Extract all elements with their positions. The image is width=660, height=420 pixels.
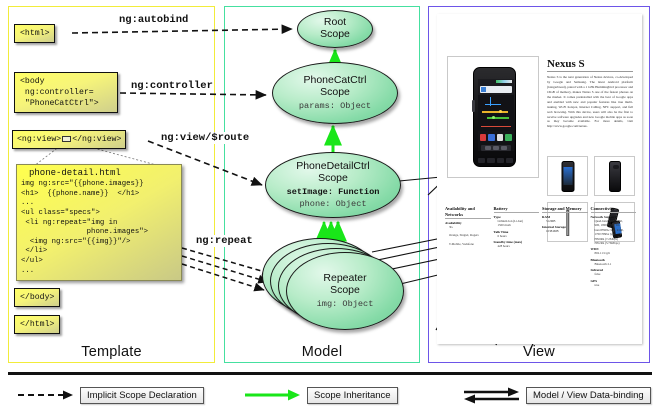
bidirectional-arrow-icon bbox=[462, 386, 520, 404]
wire-label-controller: ng:controller bbox=[130, 80, 214, 92]
spec-value: 6 hours bbox=[494, 234, 540, 238]
spec-value: Quad-band GSM: 850, 900, 1800, 1900 Tri-… bbox=[591, 219, 637, 245]
legend-label-scope-inheritance: Scope Inheritance bbox=[307, 387, 398, 404]
thumbnail-phone-back[interactable] bbox=[594, 156, 635, 196]
wire-label-ngview-route: ng:view/$route bbox=[160, 132, 250, 144]
spec-value: Bluetooth 2.1 bbox=[591, 262, 637, 266]
green-arrow-icon bbox=[243, 386, 301, 404]
spec-heading: Storage and Memory bbox=[542, 206, 588, 213]
product-title-block: Nexus S Nexus S is the next generation o… bbox=[547, 58, 633, 129]
spec-value: 3G Orange, Singtel, Rogers T-Mobile, Vod… bbox=[445, 225, 491, 247]
scope-root-title: Root Scope bbox=[320, 17, 350, 41]
scope-repeater: Repeater Scope img: Object bbox=[286, 252, 404, 330]
scope-phonecatctrl-title: PhoneCatCtrl Scope bbox=[303, 75, 366, 99]
spec-table: Availability and Networks Availability 3… bbox=[445, 206, 636, 287]
ngview-slot-icon bbox=[62, 136, 71, 142]
phone-nav-buttons bbox=[478, 158, 513, 163]
legend: Implicit Scope Declaration Scope Inherit… bbox=[0, 372, 660, 420]
tag-ngview: <ng:view></ng:view> bbox=[12, 130, 126, 149]
legend-item-scope-inheritance: Scope Inheritance bbox=[243, 386, 398, 404]
column-label-model: Model bbox=[225, 344, 419, 360]
spec-value: 802.11 b/g/n bbox=[591, 251, 637, 255]
scope-repeater-prop-img: img: Object bbox=[317, 299, 374, 309]
spec-value: false bbox=[591, 272, 637, 276]
tag-html-open: <html> bbox=[14, 24, 55, 43]
column-label-view: View bbox=[429, 344, 649, 360]
column-label-template: Template bbox=[9, 344, 214, 360]
tag-body-open: <body ng:controller= "PhoneCatCtrl"> bbox=[14, 72, 118, 113]
spec-heading: Battery bbox=[494, 206, 540, 213]
wire-label-autobind: ng:autobind bbox=[118, 14, 189, 26]
tag-ngview-open: <ng:view> bbox=[17, 135, 61, 144]
phone-side-button-icon bbox=[472, 100, 475, 112]
spec-value: 16384MB bbox=[542, 229, 588, 233]
code-sheet-filename: phone-detail.html bbox=[17, 165, 181, 180]
legend-label-implicit-scope: Implicit Scope Declaration bbox=[80, 387, 204, 404]
phone-app-icons bbox=[480, 134, 512, 143]
spec-value: 512MB bbox=[542, 219, 588, 223]
phone-dock bbox=[481, 145, 511, 151]
spec-column-connectivity: Connectivity Network Support Quad-band G… bbox=[591, 206, 637, 287]
scope-phonedetailctrl: PhoneDetailCtrl Scope setImage: Function… bbox=[265, 152, 401, 218]
spec-value: 428 hours bbox=[494, 244, 540, 248]
tag-body-close: </body> bbox=[14, 288, 60, 307]
spec-value: Lithium Ion (Li-Ion) 1500 mAh bbox=[494, 219, 540, 228]
legend-item-data-binding: Model / View Data-binding bbox=[462, 386, 651, 404]
scope-root: Root Scope bbox=[297, 10, 373, 48]
product-title: Nexus S bbox=[547, 58, 633, 72]
code-sheet-phone-detail: phone-detail.html img ng:src="{{phone.im… bbox=[16, 164, 182, 281]
legend-item-implicit-scope: Implicit Scope Declaration bbox=[16, 386, 204, 404]
legend-divider bbox=[8, 372, 652, 375]
phone-map-widget bbox=[478, 95, 514, 131]
spec-heading: Availability and Networks bbox=[445, 206, 491, 219]
code-sheet-source: img ng:src="{{phone.images}} <h1> {{phon… bbox=[17, 180, 181, 276]
tag-html-close: </html> bbox=[14, 315, 60, 334]
wire-label-repeat: ng:repeat bbox=[195, 235, 254, 247]
phone-screen bbox=[478, 79, 514, 151]
phone-search-widget bbox=[480, 86, 512, 93]
tag-ngview-close: </ng:view> bbox=[72, 135, 121, 144]
scope-phonecatctrl-prop-params: params: Object bbox=[299, 101, 371, 111]
spec-column-storage: Storage and Memory RAM 512MB Internal St… bbox=[542, 206, 588, 287]
spec-heading: Connectivity bbox=[591, 206, 637, 213]
scope-repeater-title: Repeater Scope bbox=[323, 273, 366, 297]
spec-value: true bbox=[591, 283, 637, 287]
phone-statusbar bbox=[496, 80, 512, 83]
spec-column-battery: Battery Type Lithium Ion (Li-Ion) 1500 m… bbox=[494, 206, 540, 287]
product-description: Nexus S is the next generation of Nexus … bbox=[547, 75, 633, 129]
hero-image-frame bbox=[447, 56, 539, 178]
legend-label-data-binding: Model / View Data-binding bbox=[526, 387, 651, 404]
scope-phonedetailctrl-prop-setimage: setImage: Function bbox=[287, 187, 380, 197]
thumbnail-phone-front[interactable] bbox=[547, 156, 588, 196]
dashed-arrow-icon bbox=[16, 386, 74, 404]
spec-column-availability: Availability and Networks Availability 3… bbox=[445, 206, 491, 287]
diagram-canvas: Template Model View bbox=[0, 0, 660, 420]
scope-phonedetailctrl-title: PhoneDetailCtrl Scope bbox=[296, 161, 370, 185]
phone-hero-image bbox=[473, 67, 516, 167]
view-rendered-page: Nexus S Nexus S is the next generation o… bbox=[437, 14, 642, 344]
scope-phonecatctrl: PhoneCatCtrl Scope params: Object bbox=[272, 62, 398, 124]
scope-phonedetailctrl-prop-phone: phone: Object bbox=[299, 199, 366, 209]
